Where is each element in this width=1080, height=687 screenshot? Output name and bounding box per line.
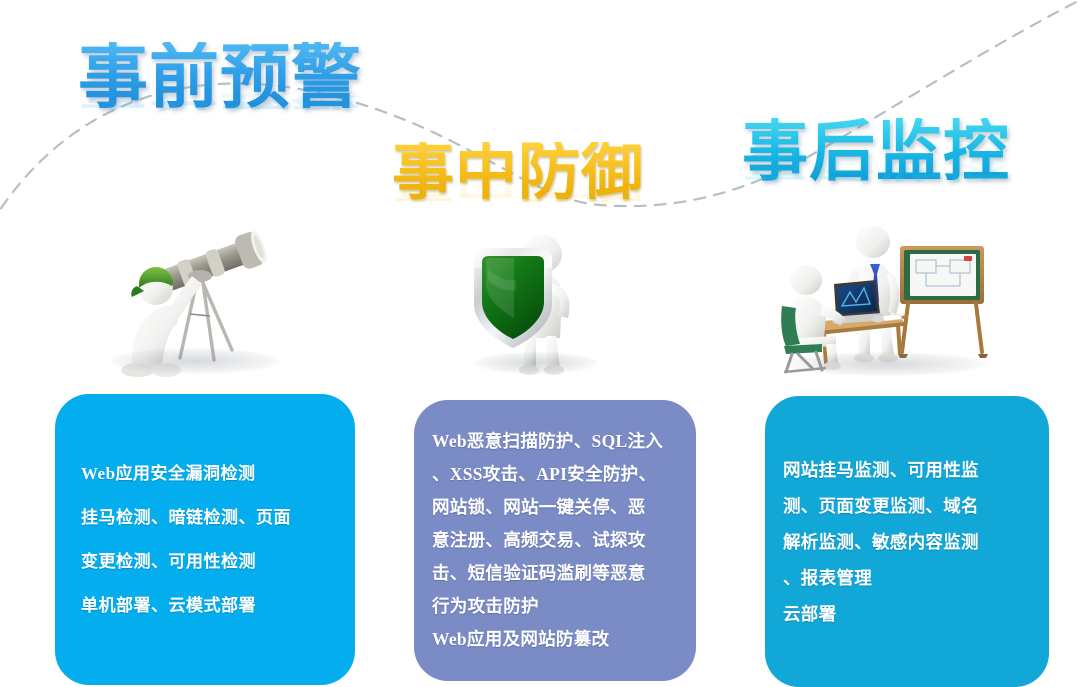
card-line: 解析监测、敏感内容监测 — [783, 524, 1031, 560]
stage-title-in-progress-defense-reflection: 事中防御 — [392, 170, 644, 202]
card-line: 行为攻击防护 — [432, 590, 678, 623]
card-line: 、XSS攻击、API安全防护、 — [432, 458, 678, 491]
stage-title-pre-warning-reflection: 事前预警 — [78, 74, 362, 110]
stage-card-in-progress-defense: Web恶意扫描防护、SQL注入 、XSS攻击、API安全防护、 网站锁、网站一键… — [414, 400, 696, 681]
card-line: 云部署 — [783, 596, 1031, 632]
card-line: 意注册、高频交易、试探攻 — [432, 524, 678, 557]
stage-card-pre-warning: Web应用安全漏洞检测 挂马检测、暗链检测、页面 变更检测、可用性检测 单机部署… — [55, 394, 355, 685]
stage-card-post-monitoring: 网站挂马监测、可用性监 测、页面变更监测、域名 解析监测、敏感内容监测 、报表管… — [765, 396, 1049, 687]
card-line: 网站锁、网站一键关停、恶 — [432, 491, 678, 524]
card-line: 变更检测、可用性检测 — [81, 540, 329, 584]
stage-title-post-monitoring: 事后监控 事后监控 — [742, 118, 1010, 248]
card-line: 击、短信验证码滥刷等恶意 — [432, 557, 678, 590]
telescope-observer-icon — [92, 218, 297, 378]
card-line: Web恶意扫描防护、SQL注入 — [432, 425, 678, 458]
card-line: Web应用安全漏洞检测 — [81, 452, 329, 496]
card-line: Web应用及网站防篡改 — [432, 623, 678, 656]
card-line: 网站挂马监测、可用性监 — [783, 452, 1031, 488]
card-line: 单机部署、云模式部署 — [81, 584, 329, 628]
slide-canvas: 事前预警 事前预警 事中防御 事中防御 事后监控 事后监控 — [0, 0, 1080, 687]
card-line: 测、页面变更监测、域名 — [783, 488, 1031, 524]
stage-title-pre-warning: 事前预警 事前预警 — [78, 42, 362, 180]
stage-title-post-monitoring-reflection: 事后监控 — [742, 148, 1010, 182]
stage-title-in-progress-defense: 事中防御 事中防御 — [392, 142, 644, 264]
card-line: 、报表管理 — [783, 560, 1031, 596]
card-line: 挂马检测、暗链检测、页面 — [81, 496, 329, 540]
